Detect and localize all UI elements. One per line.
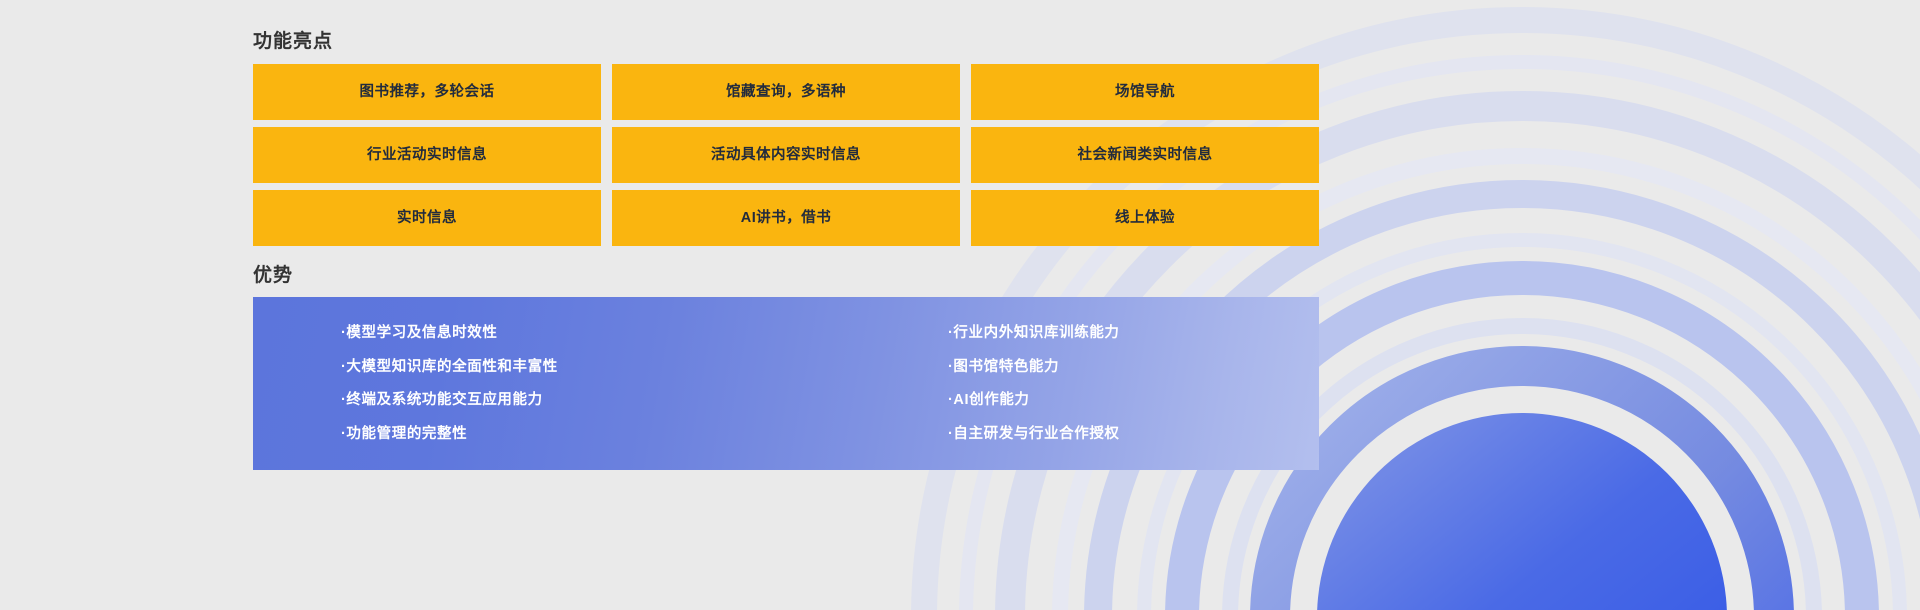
advantage-item: ·图书馆特色能力 xyxy=(948,360,1319,375)
advantages-panel: ·模型学习及信息时效性 ·大模型知识库的全面性和丰富性 ·终端及系统功能交互应用… xyxy=(253,297,1319,470)
feature-card-label: 行业活动实时信息 xyxy=(367,148,487,163)
feature-card[interactable]: 活动具体内容实时信息 xyxy=(612,127,960,183)
advantages-column-right: ·行业内外知识库训练能力 ·图书馆特色能力 ·AI创作能力 ·自主研发与行业合作… xyxy=(786,326,1319,441)
advantages-column-left: ·模型学习及信息时效性 ·大模型知识库的全面性和丰富性 ·终端及系统功能交互应用… xyxy=(253,326,786,441)
advantage-item: ·行业内外知识库训练能力 xyxy=(948,326,1319,341)
feature-card[interactable]: 行业活动实时信息 xyxy=(253,127,601,183)
feature-card-label: 实时信息 xyxy=(397,211,457,226)
feature-card-grid: 图书推荐，多轮会话 馆藏查询，多语种 场馆导航 行业活动实时信息 活动具体内容实… xyxy=(253,64,1319,246)
advantage-item: ·模型学习及信息时效性 xyxy=(341,326,786,341)
advantage-item: ·AI创作能力 xyxy=(948,393,1319,408)
advantage-item: ·自主研发与行业合作授权 xyxy=(948,427,1319,442)
slide-canvas: 功能亮点 图书推荐，多轮会话 馆藏查询，多语种 场馆导航 行业活动实时信息 活动… xyxy=(0,0,1920,610)
feature-card[interactable]: AI讲书，借书 xyxy=(612,190,960,246)
feature-card[interactable]: 线上体验 xyxy=(971,190,1319,246)
feature-card-label: 场馆导航 xyxy=(1115,85,1175,100)
feature-card[interactable]: 社会新闻类实时信息 xyxy=(971,127,1319,183)
feature-card-label: 社会新闻类实时信息 xyxy=(1078,148,1213,163)
feature-card[interactable]: 馆藏查询，多语种 xyxy=(612,64,960,120)
feature-card[interactable]: 场馆导航 xyxy=(971,64,1319,120)
feature-card-label: 图书推荐，多轮会话 xyxy=(360,85,495,100)
feature-card[interactable]: 实时信息 xyxy=(253,190,601,246)
feature-card[interactable]: 图书推荐，多轮会话 xyxy=(253,64,601,120)
feature-card-label: 线上体验 xyxy=(1115,211,1175,226)
feature-card-label: 馆藏查询，多语种 xyxy=(726,85,846,100)
feature-card-label: AI讲书，借书 xyxy=(741,211,832,226)
advantages-section-title: 优势 xyxy=(253,266,293,285)
content-column: 功能亮点 图书推荐，多轮会话 馆藏查询，多语种 场馆导航 行业活动实时信息 活动… xyxy=(253,0,1319,610)
advantage-item: ·终端及系统功能交互应用能力 xyxy=(341,393,786,408)
advantage-item: ·功能管理的完整性 xyxy=(341,427,786,442)
features-section-title: 功能亮点 xyxy=(253,32,333,51)
advantage-item: ·大模型知识库的全面性和丰富性 xyxy=(341,360,786,375)
feature-card-label: 活动具体内容实时信息 xyxy=(711,148,861,163)
